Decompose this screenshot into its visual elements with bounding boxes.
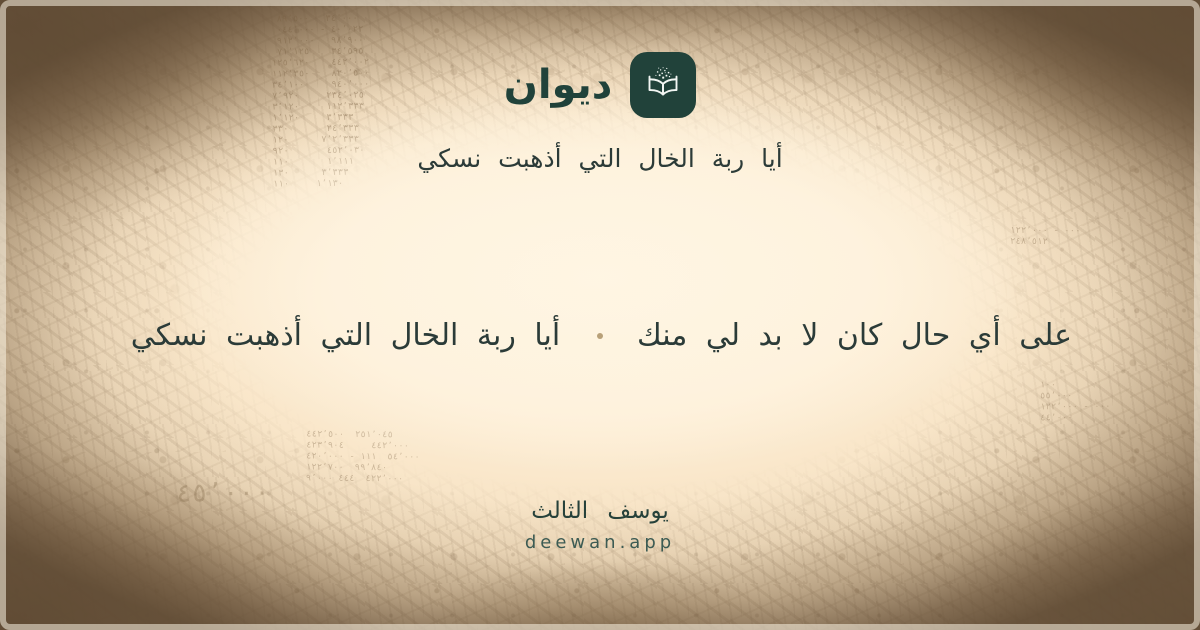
poem-subtitle: أيا ربة الخال التي أذهبت نسكي	[417, 144, 782, 173]
site-url: deewan.app	[525, 532, 675, 553]
open-book-sparkles-icon	[630, 52, 696, 118]
verse-separator-dot	[597, 333, 603, 339]
card-content: ديوان أيا ربة الخال التي أذهبت نسكي على …	[0, 0, 1200, 630]
brand-name: ديوان	[504, 65, 612, 105]
poem-card: ٣٤٬٠٠٠ ٨٩٬٥٠٠ ٤٠٬٠٢٢ - ٠٤٤٬٠٠٠ ٩٨٬٩٠٠ ٩١…	[0, 0, 1200, 630]
verse-second-hemistich: على أي حال كان لا بد لي منك	[607, 318, 1102, 353]
verse-line: على أي حال كان لا بد لي منك أيا ربة الخا…	[0, 318, 1200, 353]
brand-lockup: ديوان	[504, 52, 696, 118]
verse-first-hemistich: أيا ربة الخال التي أذهبت نسكي	[98, 318, 593, 353]
card-footer: يوسف الثالث deewan.app	[0, 498, 1200, 553]
poem-author: يوسف الثالث	[531, 498, 669, 524]
